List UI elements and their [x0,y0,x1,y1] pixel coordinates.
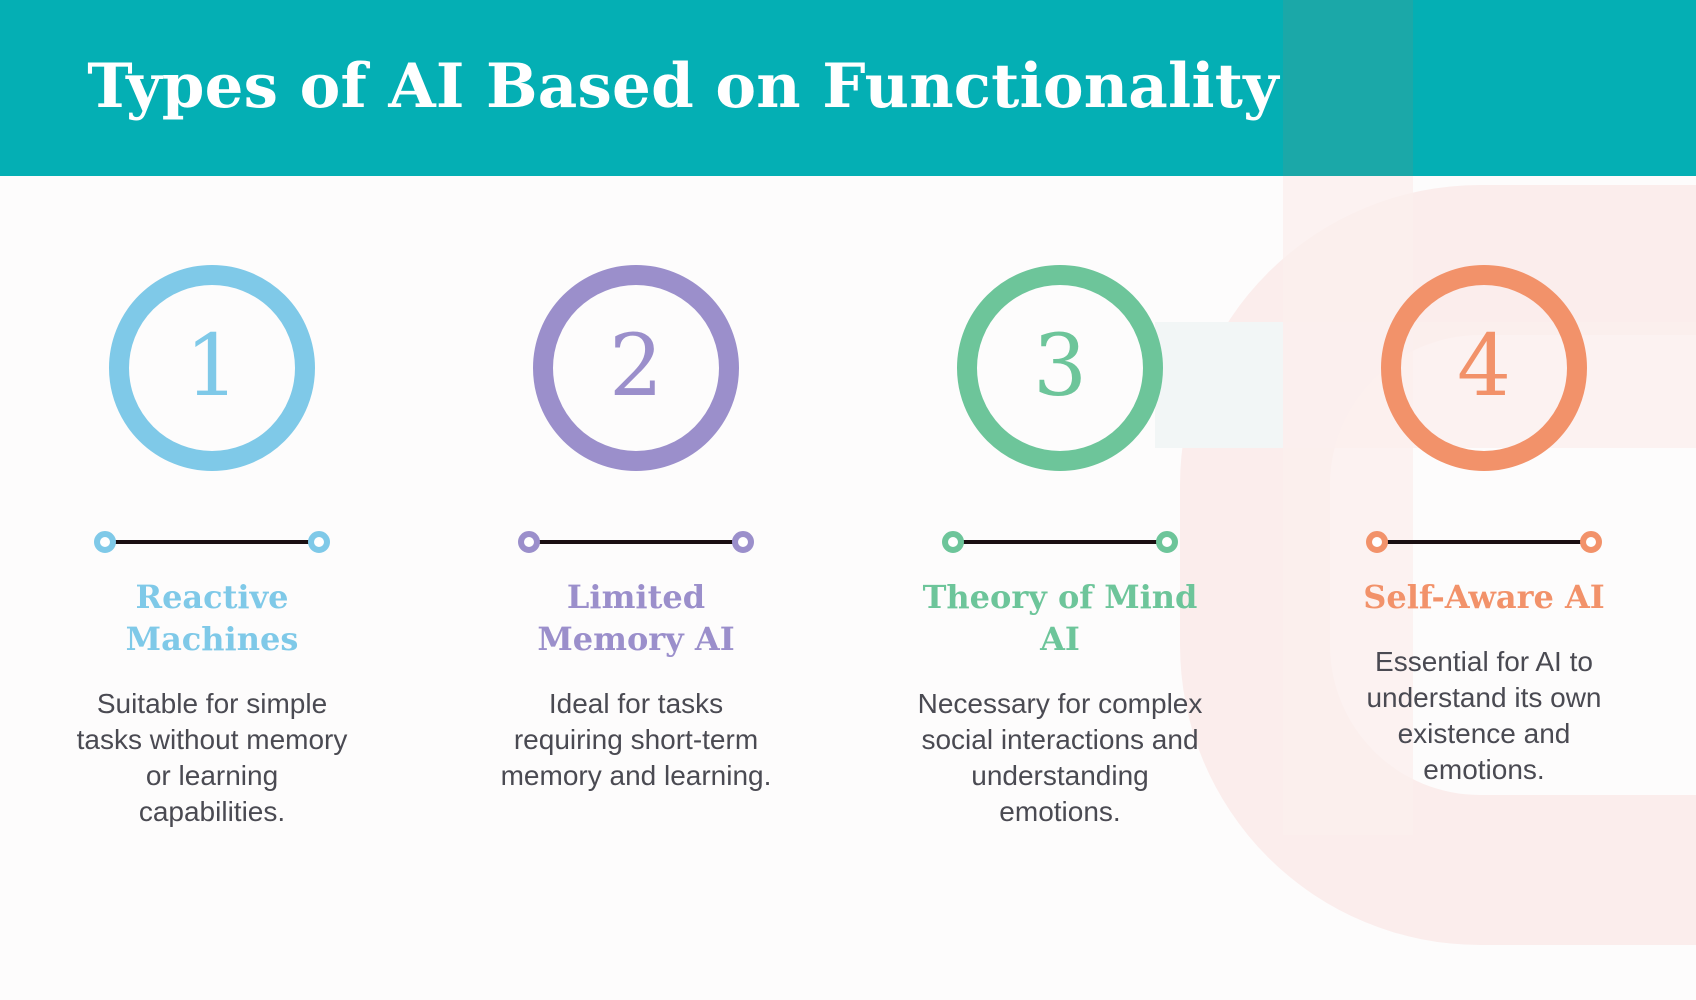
connector-bar-1 [94,531,330,553]
connector-bar-4 [1366,531,1602,553]
ring-number-label: 1 [185,324,239,409]
card-description: Essential for AI to understand its own e… [1342,644,1627,788]
ring-number-label: 4 [1457,324,1511,409]
number-ring-2: 2 [533,265,739,471]
card-title: Reactive Machines [67,576,357,660]
number-ring-1: 1 [109,265,315,471]
infographic-page: Types of AI Based on Functionality 1 Rea… [0,0,1696,1000]
card-limited-memory-ai: 2 Limited Memory AI Ideal for tasks requ… [424,176,848,1000]
connector-bar-3 [942,531,1178,553]
card-self-aware-ai: 4 Self-Aware AI Essential for AI to unde… [1272,176,1696,1000]
connector-bar-2 [518,531,754,553]
card-description: Ideal for tasks requiring short-term mem… [494,686,779,794]
connector-line [529,540,743,544]
connector-dot-left-icon [94,531,116,553]
connector-line [1377,540,1591,544]
card-theory-of-mind-ai: 3 Theory of Mind AI Necessary for comple… [848,176,1272,1000]
connector-dot-right-icon [732,531,754,553]
connector-dot-left-icon [1366,531,1388,553]
card-description: Suitable for simple tasks without memory… [70,686,355,830]
connector-line [105,540,319,544]
connector-dot-right-icon [308,531,330,553]
card-reactive-machines: 1 Reactive Machines Suitable for simple … [0,176,424,1000]
connector-dot-right-icon [1156,531,1178,553]
ring-number-label: 3 [1033,324,1087,409]
connector-dot-left-icon [518,531,540,553]
connector-line [953,540,1167,544]
ring-number-label: 2 [609,324,663,409]
header-banner: Types of AI Based on Functionality [0,0,1696,176]
connector-dot-right-icon [1580,531,1602,553]
number-ring-3: 3 [957,265,1163,471]
cards-row: 1 Reactive Machines Suitable for simple … [0,176,1696,1000]
card-description: Necessary for complex social interaction… [918,686,1203,830]
card-title: Theory of Mind AI [915,576,1205,660]
page-title: Types of AI Based on Functionality [0,52,1696,122]
card-title: Limited Memory AI [491,576,781,660]
number-ring-4: 4 [1381,265,1587,471]
card-title: Self-Aware AI [1363,576,1605,618]
connector-dot-left-icon [942,531,964,553]
